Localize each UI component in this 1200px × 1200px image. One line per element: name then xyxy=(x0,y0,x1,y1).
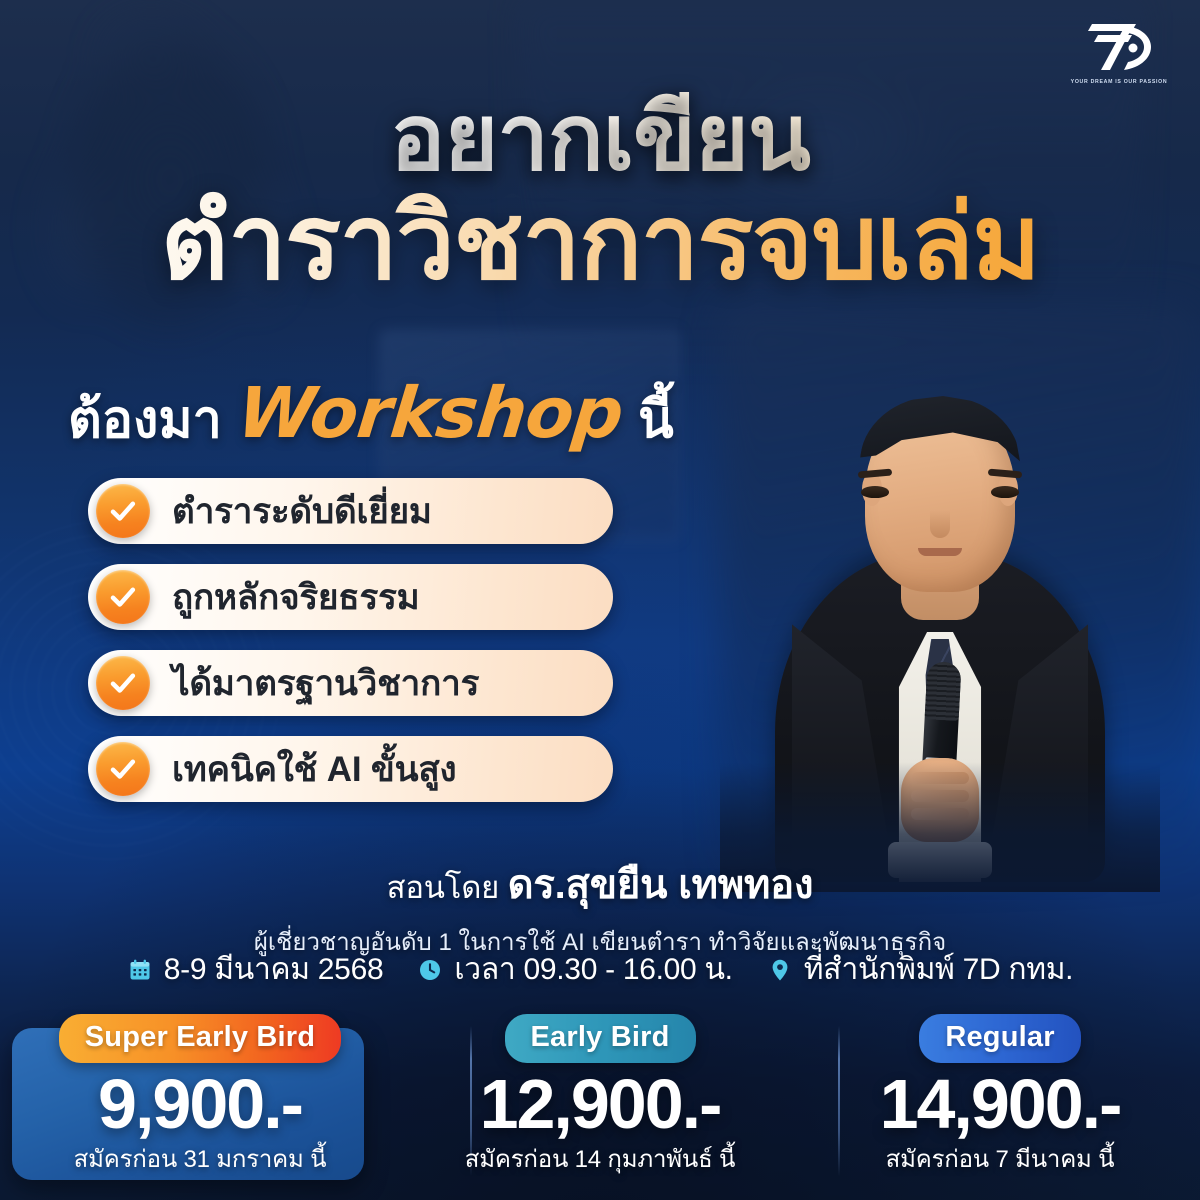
tier-deadline: สมัครก่อน 7 มีนาคม นี้ xyxy=(886,1139,1115,1178)
brand-logo: YOUR DREAM IS OUR PASSION xyxy=(1066,18,1172,102)
tier-badge: Regular xyxy=(919,1014,1080,1063)
event-location-text: ที่สำนักพิมพ์ 7D กทม. xyxy=(804,946,1074,993)
workshop-subheadline: ต้องมา Workshop นี้ xyxy=(68,372,674,460)
check-glyph xyxy=(107,581,139,613)
check-glyph xyxy=(107,753,139,785)
location-pin-icon xyxy=(767,957,793,983)
tier-price: 12,900.- xyxy=(480,1067,721,1141)
instructor-name: ดร.สุขยืน เทพทอง xyxy=(508,863,814,907)
benefit-label: ตำราระดับดีเยี่ยม xyxy=(172,484,432,539)
pricing-row: Super Early Bird 9,900.- สมัครก่อน 31 มก… xyxy=(0,1012,1200,1188)
check-glyph xyxy=(107,495,139,527)
workshop-prefix: ต้องมา xyxy=(68,377,222,460)
check-icon xyxy=(96,656,150,710)
speaker-mouth xyxy=(918,548,962,556)
headline-line-2: ตำราวิชาการจบเล่ม xyxy=(0,190,1200,296)
speaker-photo xyxy=(750,322,1130,882)
check-icon xyxy=(96,570,150,624)
instructor-block: สอนโดย ดร.สุขยืน เทพทอง ผู้เชี่ยวชาญอันด… xyxy=(0,852,1200,961)
benefit-item-4: เทคนิคใช้ AI ขั้นสูง xyxy=(88,736,613,802)
pricing-tier-early-bird[interactable]: Early Bird 12,900.- สมัครก่อน 14 กุมภาพั… xyxy=(400,1012,800,1188)
workshop-emphasis: Workshop xyxy=(234,372,627,454)
logo-tagline: YOUR DREAM IS OUR PASSION xyxy=(1071,79,1168,85)
logo-7d-icon xyxy=(1082,18,1156,76)
pricing-divider-2 xyxy=(838,1026,840,1176)
speaker-nose xyxy=(930,510,950,538)
workshop-suffix: นี้ xyxy=(638,377,674,460)
benefit-label: ได้มาตรฐานวิชาการ xyxy=(172,656,479,711)
pricing-tier-regular[interactable]: Regular 14,900.- สมัครก่อน 7 มีนาคม นี้ xyxy=(800,1012,1200,1188)
tier-deadline: สมัครก่อน 14 กุมภาพันธ์ นี้ xyxy=(465,1139,735,1178)
tier-badge: Super Early Bird xyxy=(59,1014,341,1063)
tier-price: 14,900.- xyxy=(880,1067,1121,1141)
instructor-prefix: สอนโดย xyxy=(387,870,499,905)
check-glyph xyxy=(107,667,139,699)
tier-badge: Early Bird xyxy=(505,1014,696,1063)
clock-glyph xyxy=(418,958,442,982)
speaker-eye-left xyxy=(861,486,889,498)
pricing-tier-super-early-bird[interactable]: Super Early Bird 9,900.- สมัครก่อน 31 มก… xyxy=(0,1012,400,1188)
benefit-item-3: ได้มาตรฐานวิชาการ xyxy=(88,650,613,716)
event-time: เวลา 09.30 - 16.00 น. xyxy=(417,946,732,993)
tier-deadline: สมัครก่อน 31 มกราคม นี้ xyxy=(74,1139,327,1178)
event-location: ที่สำนักพิมพ์ 7D กทม. xyxy=(767,946,1074,993)
speaker-eye-right xyxy=(991,486,1019,498)
instructor-line: สอนโดย ดร.สุขยืน เทพทอง xyxy=(0,852,1200,916)
benefit-label: ถูกหลักจริยธรรม xyxy=(172,570,420,625)
benefits-list: ตำราระดับดีเยี่ยม ถูกหลักจริยธรรม ได้มาต… xyxy=(88,478,613,822)
event-date: 8-9 มีนาคม 2568 xyxy=(127,946,384,993)
event-time-text: เวลา 09.30 - 16.00 น. xyxy=(454,946,732,993)
check-icon xyxy=(96,484,150,538)
tier-price: 9,900.- xyxy=(98,1067,302,1141)
clock-icon xyxy=(417,957,443,983)
headline-block: อยากเขียน ตำราวิชาการจบเล่ม xyxy=(0,92,1200,296)
calendar-glyph xyxy=(128,958,152,982)
calendar-icon xyxy=(127,957,153,983)
headline-line-1: อยากเขียน xyxy=(0,92,1200,184)
benefit-item-2: ถูกหลักจริยธรรม xyxy=(88,564,613,630)
event-date-text: 8-9 มีนาคม 2568 xyxy=(164,946,384,993)
promo-poster: YOUR DREAM IS OUR PASSION อยากเขียน ตำรา… xyxy=(0,0,1200,1200)
check-icon xyxy=(96,742,150,796)
benefit-item-1: ตำราระดับดีเยี่ยม xyxy=(88,478,613,544)
event-meta-row: 8-9 มีนาคม 2568 เวลา 09.30 - 16.00 น. ที… xyxy=(0,946,1200,993)
benefit-label: เทคนิคใช้ AI ขั้นสูง xyxy=(172,742,456,797)
location-pin-glyph xyxy=(768,958,792,982)
